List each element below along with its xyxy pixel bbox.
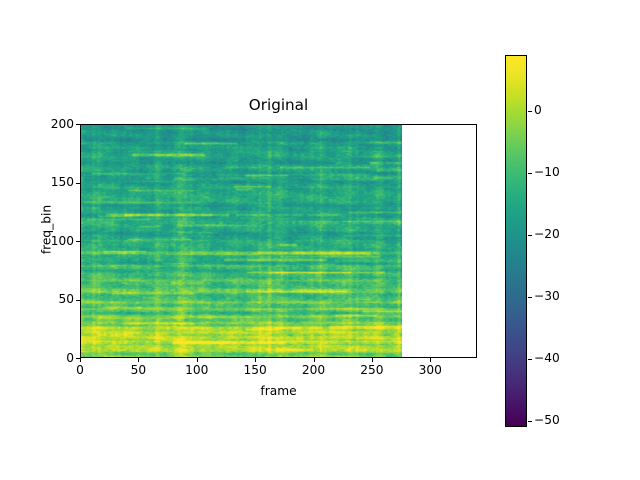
colorbar-gradient [506,56,526,426]
y-tick-label: 200 [26,117,74,132]
colorbar-tick-label: −20 [534,227,560,242]
colorbar-tick-label: 0 [534,103,542,118]
colorbar-tick-label: −40 [534,351,560,366]
x-tick-label: 250 [350,363,394,378]
y-tick-mark [76,300,80,301]
colorbar-tick-label: −10 [534,165,560,180]
spectrogram-axes [80,124,477,358]
colorbar-tick-mark [528,359,532,360]
x-tick-mark [197,358,198,362]
x-tick-label: 100 [175,363,219,378]
y-tick-mark [76,241,80,242]
colorbar-tick-mark [528,111,532,112]
y-tick-mark [76,124,80,125]
colorbar-tick-label: −30 [534,289,560,304]
y-tick-label: 50 [26,292,74,307]
colorbar-tick-label: −50 [534,413,560,428]
x-tick-label: 50 [116,363,160,378]
x-tick-mark [372,358,373,362]
y-axis-label: freq_bin [40,170,55,290]
x-axis-label: frame [80,384,477,399]
spectrogram-image [81,125,402,357]
matplotlib-figure: Original 050100150200250300 050100150200… [0,0,640,480]
colorbar-tick-mark [528,235,532,236]
colorbar [505,55,527,427]
colorbar-tick-mark [528,421,532,422]
x-tick-mark [80,358,81,362]
plot-title: Original [80,96,477,114]
colorbar-tick-mark [528,297,532,298]
colorbar-tick-mark [528,173,532,174]
x-tick-mark [430,358,431,362]
x-tick-label: 150 [233,363,277,378]
x-tick-label: 200 [292,363,336,378]
y-tick-mark [76,183,80,184]
x-tick-mark [138,358,139,362]
y-tick-mark [76,358,80,359]
x-tick-mark [314,358,315,362]
y-tick-label: 0 [26,351,74,366]
x-tick-mark [255,358,256,362]
x-tick-label: 300 [408,363,452,378]
